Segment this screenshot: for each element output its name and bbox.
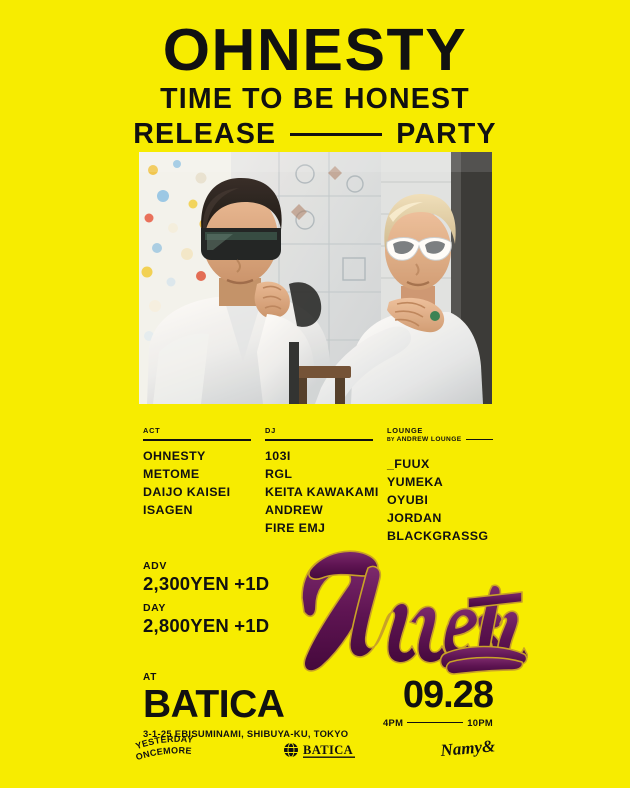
party-word: PARTY [396,118,496,151]
poster-root: OHNESTY TIME TO BE HONEST RELEASE PARTY [0,0,630,788]
lineup-heading-dj: DJ [265,427,387,435]
lineup-section: ACT OHNESTY METOME DAIJO KAISEI ISAGEN D… [143,427,493,546]
lounge-byline: BY ANDREW LOUNGE [387,436,493,443]
list-item: ANDREW [265,502,387,520]
lineup-column-act: ACT OHNESTY METOME DAIJO KAISEI ISAGEN [143,427,265,546]
event-start-time: 4PM [383,717,403,728]
yesterday-oncemore-logo-icon: YESTERDAY ONCEMORE [133,734,211,768]
sponsor-logo-namy: Namy& [437,734,505,768]
release-word: RELEASE [133,118,276,151]
event-date-block: 09.28 4PM 10PM [383,676,493,728]
event-date: 09.28 [383,676,493,714]
batica-wordmark: BATICA [303,743,353,757]
lounge-by-prefix: BY [387,437,395,443]
venue-name: BATICA [143,685,348,724]
sponsor-logo-yesterday-oncemore: YESTERDAY ONCEMORE [133,734,211,768]
lounge-byline-rule [466,439,493,440]
namy-logo-icon: Namy& [437,734,505,768]
sponsor-logo-batica: BATICA [281,734,359,768]
ohnesty-script-logo-artwork [296,550,528,675]
lineup-heading-act: ACT [143,427,265,435]
list-item: RGL [265,466,387,484]
artist-photo-illustration [139,152,492,404]
list-item: JORDAN [387,510,493,528]
lineup-rule-dj [265,439,373,441]
namy-wordmark: Namy& [439,736,497,760]
venue-block: AT BATICA 3-1-25 EBISUMINAMI, SHIBUYA-KU… [143,672,348,739]
sponsor-logos: YESTERDAY ONCEMORE BATICA [0,734,630,774]
release-party-line: RELEASE PARTY [0,118,630,151]
list-item: BLACKGRASSG [387,528,493,546]
batica-globe-mark [284,743,298,757]
lounge-by-name: ANDREW LOUNGE [397,436,462,443]
lineup-rule-lounge [387,447,495,449]
headline-block: OHNESTY TIME TO BE HONEST RELEASE PARTY [0,22,630,151]
ohnesty-script-logo [296,550,528,675]
list-item: ISAGEN [143,502,265,520]
lineup-column-dj: DJ 103I RGL KEITA KAWAKAMI ANDREW FIRE E… [265,427,387,546]
list-item: OHNESTY [143,448,265,466]
list-item: FIRE EMJ [265,520,387,538]
list-item: METOME [143,466,265,484]
event-time-rule [407,722,463,724]
page-title: OHNESTY [0,22,630,80]
lineup-rule-act [143,439,251,441]
list-item: KEITA KAWAKAMI [265,484,387,502]
lineup-column-lounge: LOUNGE BY ANDREW LOUNGE _FUUX YUMEKA OYU… [387,427,493,546]
list-item: _FUUX [387,456,493,474]
list-item: YUMEKA [387,474,493,492]
headline-divider-rule [290,133,382,136]
event-time-range: 4PM 10PM [383,717,493,728]
list-item: 103I [265,448,387,466]
batica-logo-icon: BATICA [281,734,359,768]
event-end-time: 10PM [467,717,493,728]
page-subtitle: TIME TO BE HONEST [0,84,630,115]
list-item: DAIJO KAISEI [143,484,265,502]
lineup-heading-lounge: LOUNGE [387,427,493,435]
artist-photo [139,152,492,404]
list-item: OYUBI [387,492,493,510]
